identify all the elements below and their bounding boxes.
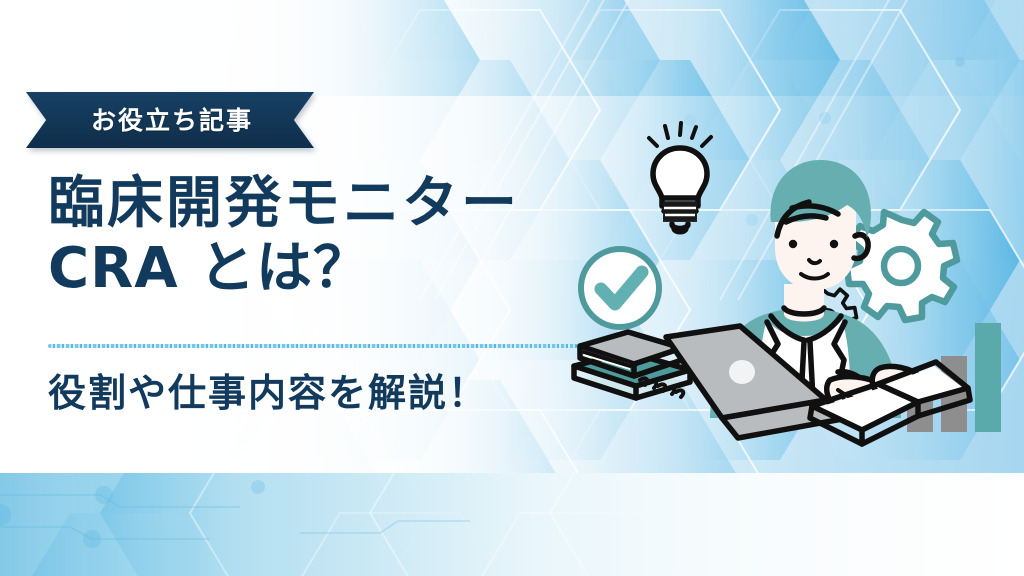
ribbon-shape: お役立ち記事 [26,92,314,148]
check-circle-icon [581,249,659,327]
gear-large-icon [847,212,957,320]
title-divider [48,344,580,348]
article-badge-ribbon: お役立ち記事 [26,92,314,148]
badge-label: お役立ち記事 [87,108,253,133]
lightbulb-icon [649,123,711,232]
hero-illustration: .ink { fill:none; stroke:#101010; stroke… [562,118,1024,458]
bottom-band-hexagon-pattern [0,473,1024,576]
article-hero-banner: お役立ち記事 臨床開発モニター CRA とは？ 役割や仕事内容を解説！ .ink… [0,0,1024,576]
page-subtitle: 役割や仕事内容を解説！ [48,362,488,417]
